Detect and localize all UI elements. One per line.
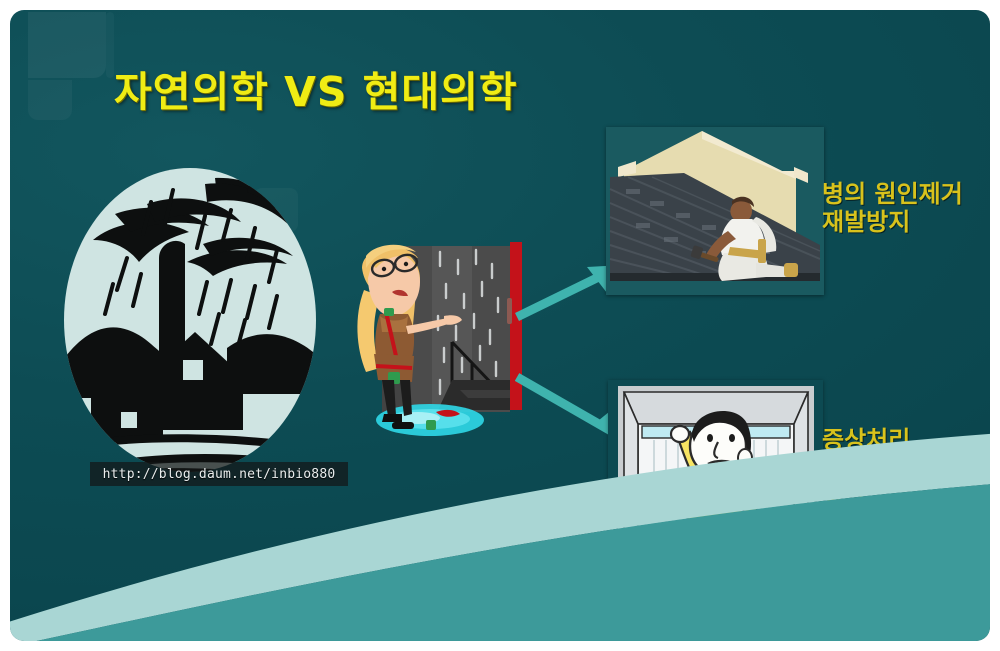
label-line: 병의 원인제거 bbox=[822, 180, 963, 208]
watermark-text: http://blog.daum.net/inbio880 bbox=[103, 467, 336, 482]
decorative-square-large bbox=[28, 12, 106, 78]
label-modern-medicine: 증상처리 수술 항암 방사선 bbox=[822, 426, 910, 539]
slide-title: 자연의학 VS 현대의학 bbox=[114, 58, 518, 118]
slide-stage: 자연의학 VS 현대의학 bbox=[0, 0, 1000, 651]
decorative-square-thin bbox=[106, 12, 114, 78]
rainy-farmhouse-oval-graphic bbox=[55, 162, 325, 482]
label-line: 수술 bbox=[822, 454, 910, 482]
label-natural-medicine: 병의 원인제거 재발방지 bbox=[822, 180, 963, 237]
presentation-slide: 자연의학 VS 현대의학 bbox=[10, 10, 990, 641]
roofer-repairing-roof-photo bbox=[606, 127, 824, 295]
label-line: 증상처리 bbox=[822, 426, 910, 454]
label-line: 재발방지 bbox=[822, 208, 963, 236]
woman-in-elevator-illustration bbox=[608, 380, 823, 590]
watermark-url: http://blog.daum.net/inbio880 bbox=[90, 462, 348, 486]
arrow-up-right-shaft bbox=[517, 273, 607, 317]
label-line: 항암 bbox=[822, 483, 910, 511]
decorative-square-small bbox=[28, 80, 72, 120]
label-line: 방사선 bbox=[822, 511, 910, 539]
